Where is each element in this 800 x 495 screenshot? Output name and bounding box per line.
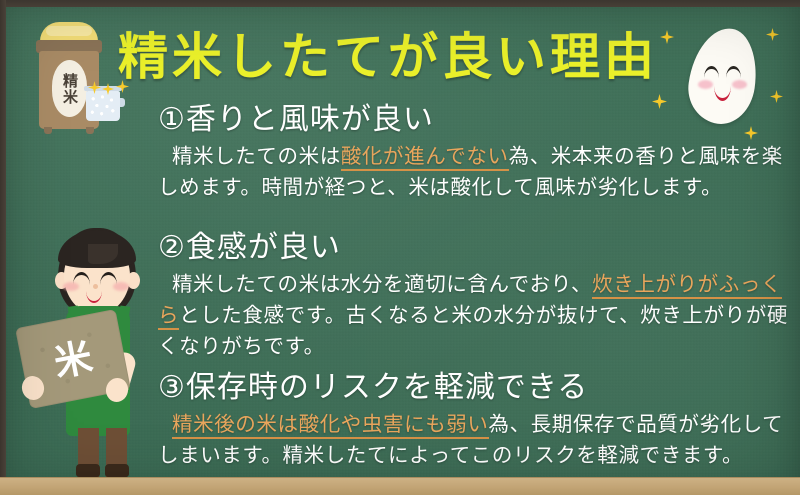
rice-bag-foot-right bbox=[86, 127, 94, 134]
section-1-marker: ① bbox=[158, 102, 186, 137]
chalkboard-poster: 精米 精米したてが良い理由 ①香りと風味が良い 精米したての米は酸化が進んでない… bbox=[0, 0, 800, 495]
section-2: ②食感が良い 精米したての米は水分を適切に含んでおり、炊き上がりがふっくらとした… bbox=[158, 232, 788, 362]
woman-shoe-right bbox=[105, 464, 129, 477]
woman-shoe-left bbox=[76, 464, 100, 477]
woman-blush-left bbox=[63, 282, 79, 291]
rice-bag-label: 精米 bbox=[52, 60, 87, 117]
section-3-heading-text: 保存時のリスクを軽減できる bbox=[186, 370, 588, 405]
woman-hair-front bbox=[58, 230, 136, 268]
woman-nose bbox=[93, 284, 98, 289]
section-3-body: 精米後の米は酸化や虫害にも弱い為、長期保存で品質が劣化してしまいます。精米したて… bbox=[158, 409, 788, 471]
section-2-heading: ②食感が良い bbox=[158, 232, 788, 264]
section-2-body-post: とした食感です。古くなると米の水分が抜けて、炊き上がりが硬くなりがちです。 bbox=[158, 303, 788, 358]
section-2-heading-text: 食感が良い bbox=[186, 230, 341, 265]
mascot-cheek-left bbox=[698, 80, 713, 89]
section-3: ③保存時のリスクを軽減できる 精米後の米は酸化や虫害にも弱い為、長期保存で品質が… bbox=[158, 372, 788, 471]
section-2-body: 精米したての米は水分を適切に含んでおり、炊き上がりがふっくらとした食感です。古く… bbox=[158, 269, 788, 362]
section-1-heading-text: 香りと風味が良い bbox=[186, 102, 434, 137]
rice-bag-icon: 精米 bbox=[18, 22, 112, 140]
woman-blush-right bbox=[113, 282, 129, 291]
section-1-body-pre: 精米したての米は bbox=[172, 144, 341, 168]
section-3-heading: ③保存時のリスクを軽減できる bbox=[158, 372, 788, 404]
rice-container-handle bbox=[120, 98, 125, 107]
board-frame-top bbox=[0, 0, 800, 7]
rice-bag-foot-left bbox=[44, 127, 52, 134]
page-title: 精米したてが良い理由 bbox=[118, 32, 658, 82]
rice-bag-label-text: 精米 bbox=[62, 73, 77, 105]
board-frame-bottom bbox=[0, 477, 800, 495]
woman-holding-rice-bag-icon: 米 bbox=[22, 228, 172, 478]
rice-container-tub bbox=[86, 91, 120, 121]
section-3-highlight: 精米後の米は酸化や虫害にも弱い bbox=[172, 412, 489, 439]
section-1-highlight: 酸化が進んでない bbox=[341, 144, 509, 171]
woman-rice-bag-mark: 米 bbox=[49, 336, 98, 383]
mascot-cheek-right bbox=[732, 80, 747, 89]
rice-container-icon bbox=[84, 86, 122, 122]
board-frame-left bbox=[0, 0, 6, 495]
section-1-heading: ①香りと風味が良い bbox=[158, 104, 788, 136]
section-1: ①香りと風味が良い 精米したての米は酸化が進んでない為、米本来の香りと風味を楽し… bbox=[158, 104, 788, 203]
section-2-body-pre: 精米したての米は水分を適切に含んでおり、 bbox=[172, 272, 592, 296]
section-1-body: 精米したての米は酸化が進んでない為、米本来の香りと風味を楽しめます。時間が経つと… bbox=[158, 141, 788, 203]
